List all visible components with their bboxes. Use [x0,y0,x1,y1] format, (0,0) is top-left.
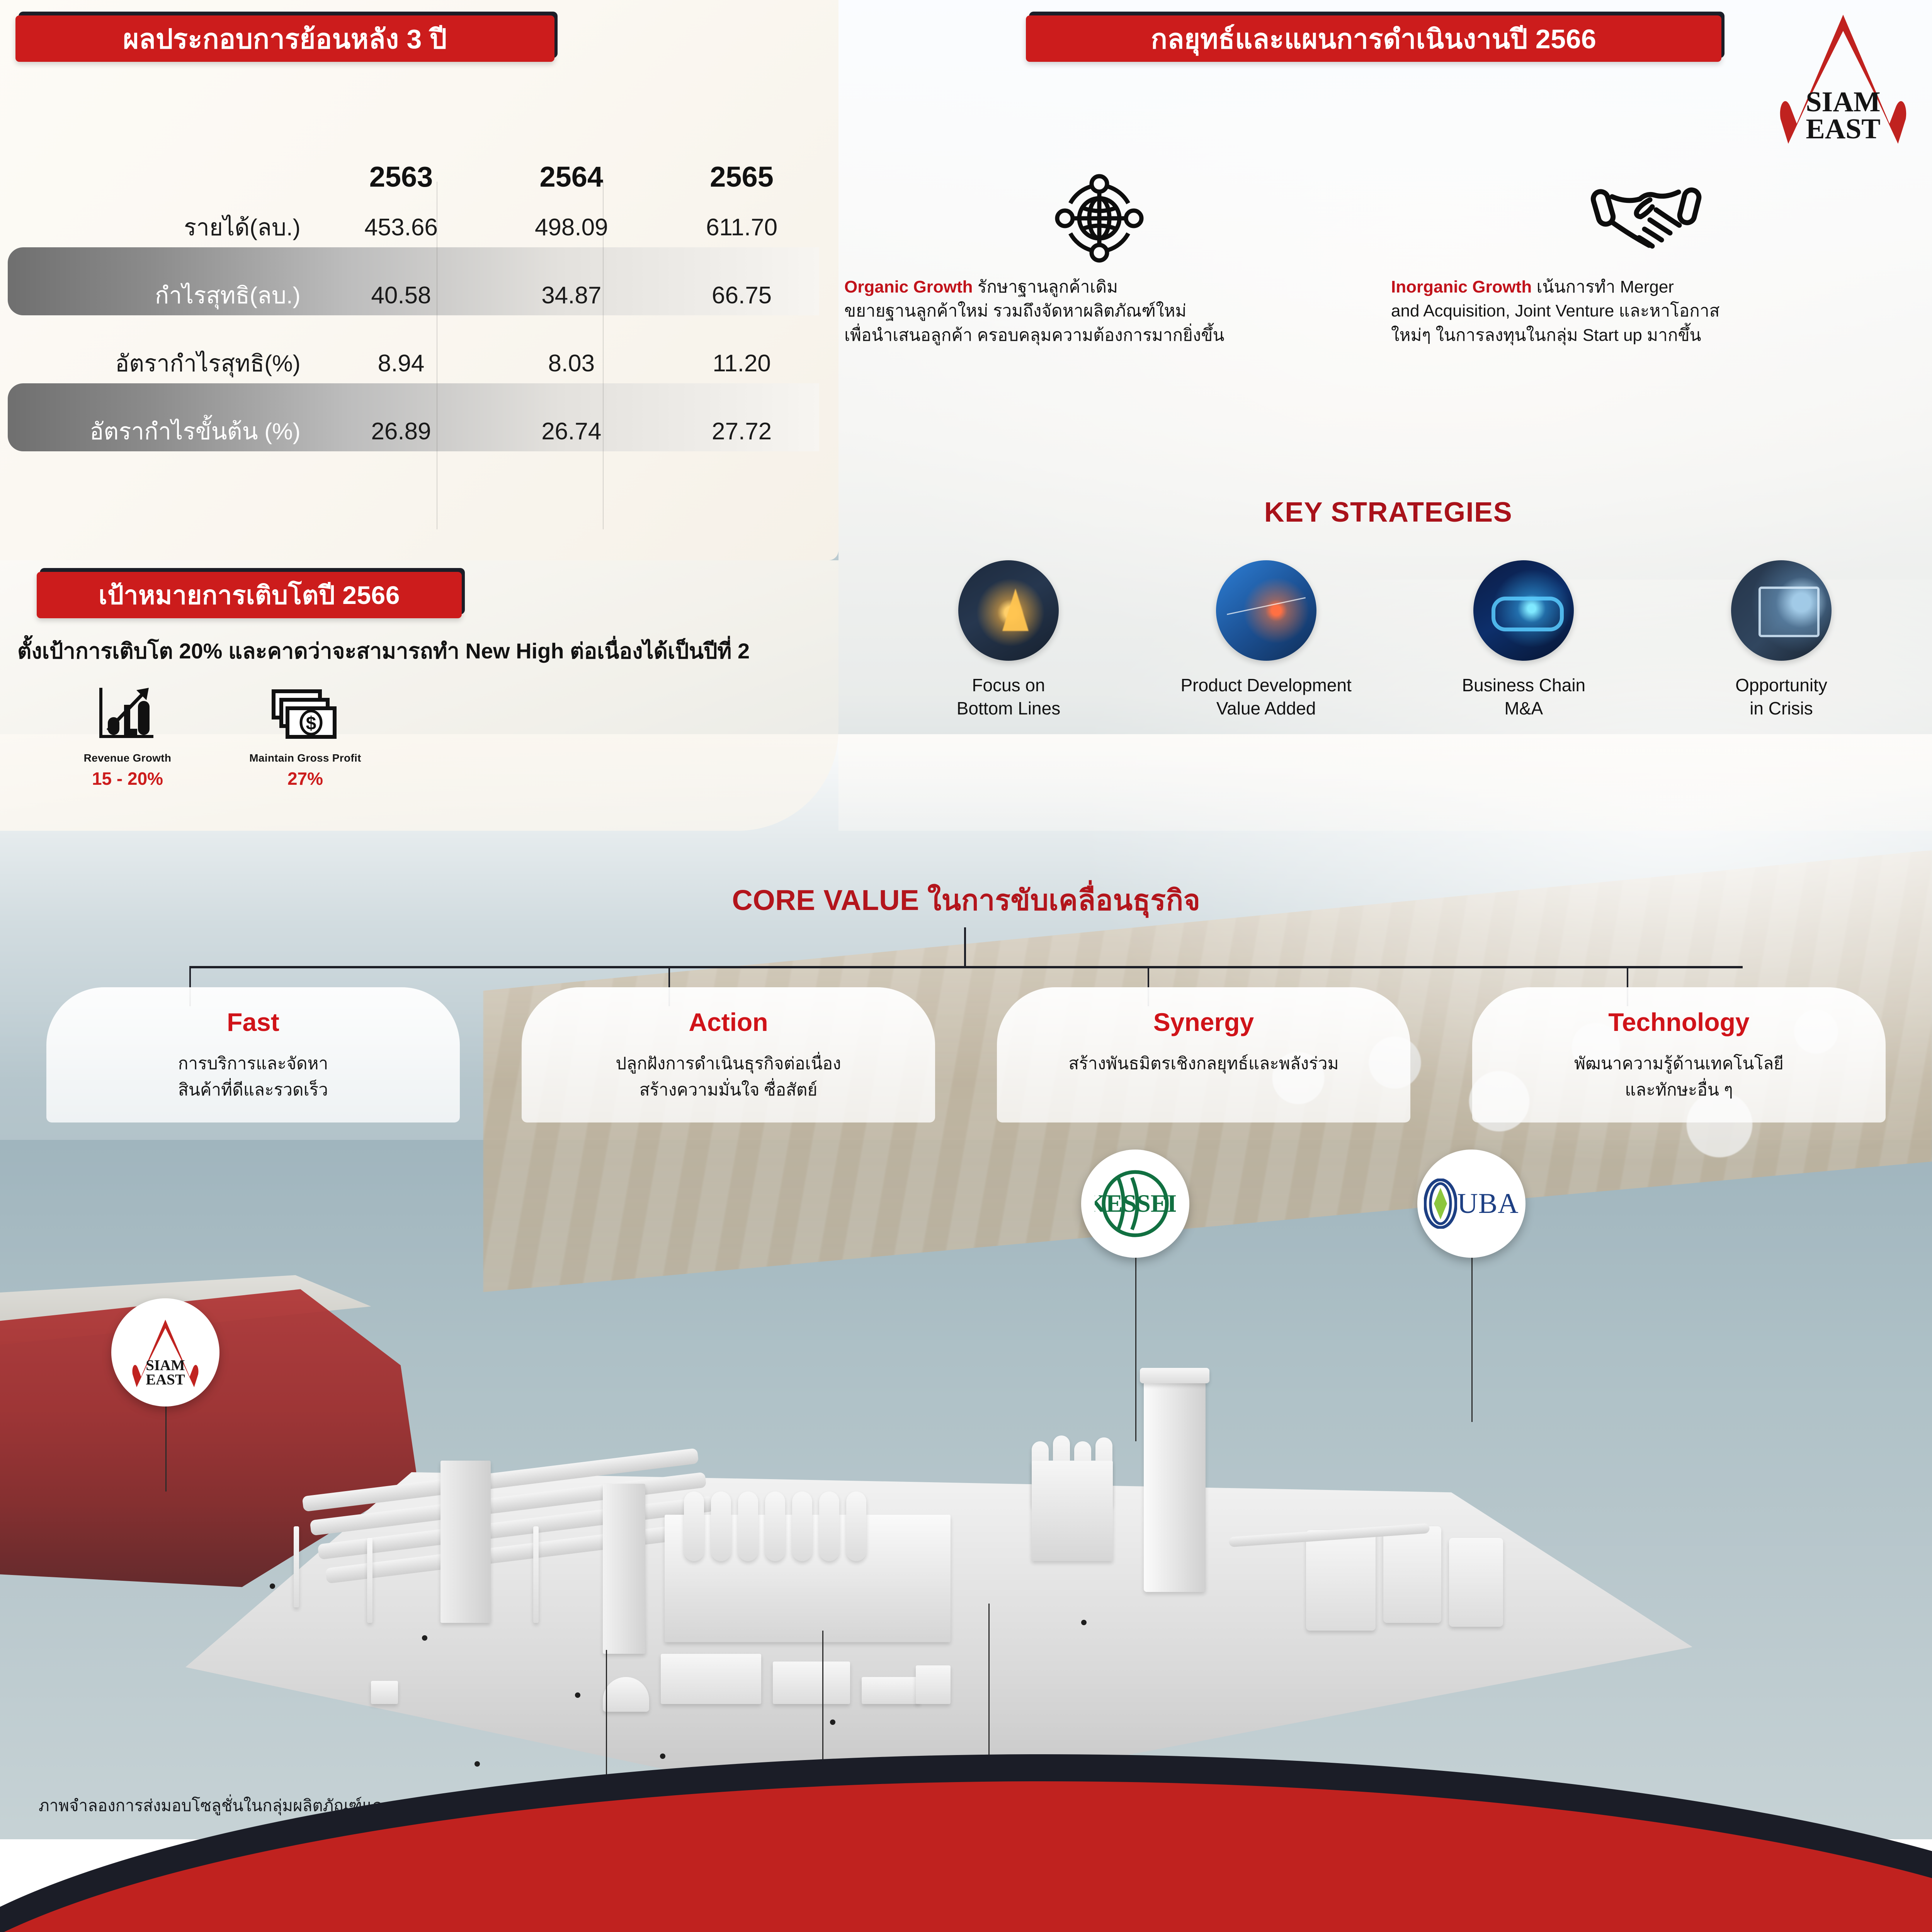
table-cell-value: 498.09 [486,193,656,261]
opportunity-in-crisis-image [1731,560,1832,661]
table-cell-value: 11.20 [656,329,827,397]
core-value-card-action: Action ปลูกฝังการดำเนินธุรกิจต่อเนื่อง ส… [522,987,935,1122]
logo-text-east: EAST [1806,113,1880,145]
banknotes-icon: $ [216,684,394,746]
callout-marker [422,1635,427,1641]
key-strategy-line2: M&A [1504,698,1543,718]
core-value-card-synergy: Synergy สร้างพันธมิตรเชิงกลยุทธ์และพลังร… [997,987,1410,1122]
core-value-connector-bar [189,966,1743,968]
growth-goal-item: $ Maintain Gross Profit 27% [216,684,394,811]
table-header-year: 2563 [316,151,486,193]
core-value-desc-line1: พัฒนาความรู้ด้านเทคโนโลยี [1574,1054,1784,1073]
key-strategy-line1: Product Development [1180,675,1351,695]
badge-leader-line [165,1406,167,1492]
table-header-year: 2564 [486,151,656,193]
key-strategy-label: Business Chain M&A [1408,674,1639,720]
growth-goal-value: 15 - 20% [39,768,216,789]
small-tank [371,1681,398,1704]
core-value-card-fast: Fast การบริการและจัดหา สินค้าที่ดีและรวด… [46,987,460,1122]
core-value-card-desc: ปลูกฝังการดำเนินธุรกิจต่อเนื่อง สร้างควา… [522,1051,935,1103]
core-value-desc-line1: สร้างพันธมิตรเชิงกลยุทธ์และพลังร่วม [1068,1054,1338,1073]
table-row-label: อัตรากำไรสุทธิ(%) [8,329,316,397]
growth-goal-value: 27% [216,768,394,789]
table-cell-value: 8.94 [316,329,486,397]
table-cell-value: 26.74 [486,397,656,465]
core-value-desc-line1: ปลูกฝังการดำเนินธุรกิจต่อเนื่อง [616,1054,841,1073]
inorganic-growth-line3: ใหม่ๆ ในการลงทุนในกลุ่ม Start up มากขึ้น [1391,326,1701,345]
core-value-cards: Fast การบริการและจัดหา สินค้าที่ดีและรวด… [46,987,1886,1122]
table-cell-value: 611.70 [656,193,827,261]
inorganic-growth-paragraph: Inorganic Growth เน้นการทำ Merger and Ac… [1391,275,1901,347]
strategy-header: กลยุทธ์และแผนการดำเนินงานปี 2566 [1026,15,1721,62]
growth-goal-items: Revenue Growth 15 - 20% $ Maintain Gross… [39,684,464,811]
inorganic-growth-lead: Inorganic Growth [1391,277,1532,296]
silo-base [1032,1461,1113,1561]
performance-header-label: ผลประกอบการย้อนหลัง 3 ปี [123,17,447,60]
reactor-vessel [684,1492,704,1561]
storage-tank [1449,1538,1503,1627]
siam-east-logo-mark: SIAM EAST [1762,8,1924,147]
inorganic-growth-rest: เน้นการทำ Merger [1532,277,1674,296]
strategy-header-label: กลยุทธ์และแผนการดำเนินงานปี 2566 [1151,17,1597,60]
reactor-vessel [765,1492,785,1561]
table-cell-value: 26.89 [316,397,486,465]
chimney-stack [1144,1376,1206,1592]
bar-chart-growth-icon [39,684,216,746]
organic-growth-rest: รักษาฐานลูกค้าเดิม [973,277,1118,296]
core-value-card-title: Technology [1472,1007,1886,1037]
key-strategy-label: Focus on Bottom Lines [893,674,1124,720]
table-cell-value: 27.72 [656,397,827,465]
inorganic-growth-block: Inorganic Growth เน้นการทำ Merger and Ac… [1391,170,1901,347]
core-value-desc-line1: การบริการและจัดหา [178,1054,328,1073]
key-strategy-item: Opportunity in Crisis [1665,560,1897,720]
core-value-card-desc: พัฒนาความรู้ด้านเทคโนโลยี และทักษะอื่น ๆ [1472,1051,1886,1103]
svg-text:$: $ [306,713,316,734]
key-strategy-line1: Focus on [972,675,1045,695]
callout-marker [575,1692,580,1698]
table-cell-value: 8.03 [486,329,656,397]
key-strategy-label: Product Development Value Added [1150,674,1382,720]
key-strategy-line2: in Crisis [1750,698,1813,718]
table-cell-value: 66.75 [656,261,827,329]
reactor-vessel [819,1492,839,1561]
table-row: รายได้(ลบ.) 453.66 498.09 611.70 [8,193,827,261]
core-value-card-desc: การบริการและจัดหา สินค้าที่ดีและรวดเร็ว [46,1051,460,1103]
growth-goal-caption: Maintain Gross Profit [216,752,394,764]
badge-text-east: EAST [146,1371,185,1388]
table-row-label: กำไรสุทธิ(ลบ.) [8,261,316,329]
core-value-card-title: Fast [46,1007,460,1037]
key-strategy-item: Focus on Bottom Lines [893,560,1124,720]
skid-unit [862,1677,920,1704]
key-strategy-item: Product Development Value Added [1150,560,1382,720]
reactor-vessel [792,1492,812,1561]
table-row: อัตรากำไรขั้นต้น (%) 26.89 26.74 27.72 [8,397,827,465]
table-cell-value: 34.87 [486,261,656,329]
key-strategy-line1: Business Chain [1462,675,1586,695]
core-value-desc-line2: สินค้าที่ดีและรวดเร็ว [178,1080,328,1099]
organic-growth-lead: Organic Growth [844,277,973,296]
product-development-image [1216,560,1316,661]
table-row: กำไรสุทธิ(ลบ.) 40.58 34.87 66.75 [8,261,827,329]
table-header-blank [8,151,316,193]
skid-unit [661,1654,761,1704]
table-header-row: 2563 2564 2565 [8,151,827,193]
ribbon-face: ผลประกอบการย้อนหลัง 3 ปี [15,15,554,62]
uba-wordmark: UBA [1457,1187,1519,1220]
table-row-label: อัตรากำไรขั้นต้น (%) [8,397,316,465]
growth-goal-header: เป้าหมายการเติบโตปี 2566 [37,572,462,618]
table-cell-value: 453.66 [316,193,486,261]
key-strategy-line2: Bottom Lines [957,698,1060,718]
core-value-card-title: Action [522,1007,935,1037]
organic-growth-paragraph: Organic Growth รักษาฐานลูกค้าเดิม ขยายฐา… [844,275,1354,347]
process-tower [603,1484,645,1654]
ribbon-face: กลยุทธ์และแผนการดำเนินงานปี 2566 [1026,15,1721,62]
callout-marker [660,1753,665,1759]
core-value-desc-line2: และทักษะอื่น ๆ [1625,1080,1733,1099]
uba-logo-icon: UBA [1424,1179,1519,1229]
reactor-vessel [711,1492,731,1561]
core-value-title: CORE VALUE ในการขับเคลื่อนธุรกิจ [0,877,1932,923]
growth-goal-header-label: เป้าหมายการเติบโตปี 2566 [99,575,400,616]
growth-goal-item: Revenue Growth 15 - 20% [39,684,216,811]
chimney-cap [1140,1368,1209,1383]
table-row-label: รายได้(ลบ.) [8,193,316,261]
inorganic-growth-line2: and Acquisition, Joint Venture และหาโอกา… [1391,301,1719,320]
siam-east-logo: SIAM EAST [1762,8,1924,147]
table-row: อัตรากำไรสุทธิ(%) 8.94 8.03 11.20 [8,329,827,397]
badge-leader-line [1135,1256,1136,1441]
core-value-card-title: Synergy [997,1007,1410,1037]
focus-bottom-lines-image [958,560,1059,661]
reactor-vessel [738,1492,758,1561]
kessel-logo-icon: KESSEL [1095,1163,1176,1244]
siam-east-badge-mark: SIAM EAST [123,1314,208,1391]
storage-tank [1306,1530,1376,1631]
callout-marker [270,1583,275,1589]
key-strategy-line1: Opportunity [1735,675,1827,695]
table-header-year: 2565 [656,151,827,193]
truss-column [533,1526,539,1623]
key-strategies-title: KEY STRATEGIES [844,497,1932,528]
business-chain-image [1473,560,1574,661]
kessel-wordmark: KESSEL [1095,1190,1176,1218]
globe-network-icon [844,170,1354,267]
financial-table: 2563 2564 2565 รายได้(ลบ.) 453.66 498.09… [8,151,827,465]
infographic-page: ผลประกอบการย้อนหลัง 3 ปี กลยุทธ์และแผนกา… [0,0,1932,1932]
callout-marker [1081,1620,1087,1625]
callout-marker [474,1761,480,1767]
core-value-card-desc: สร้างพันธมิตรเชิงกลยุทธ์และพลังร่วม [997,1051,1410,1077]
key-strategy-item: Business Chain M&A [1408,560,1639,720]
key-strategies-row: Focus on Bottom Lines Product Developmen… [893,560,1897,720]
reactor-vessel [846,1492,866,1561]
process-tower [440,1461,491,1623]
performance-header: ผลประกอบการย้อนหลัง 3 ปี [15,15,554,62]
uba-badge: UBA [1417,1150,1526,1258]
badge-leader-line [1471,1256,1473,1422]
key-strategy-label: Opportunity in Crisis [1665,674,1897,720]
callout-marker [830,1719,835,1725]
organic-growth-line3: เพื่อนำเสนอลูกค้า ครอบคลุมความต้องการมาก… [844,326,1225,345]
small-tank [916,1665,951,1704]
truss-column [367,1538,372,1623]
key-strategy-line2: Value Added [1216,698,1316,718]
table-cell-value: 40.58 [316,261,486,329]
handshake-icon [1391,170,1901,267]
kessel-badge: KESSEL [1081,1150,1189,1258]
ribbon-face: เป้าหมายการเติบโตปี 2566 [37,572,462,618]
organic-growth-block: Organic Growth รักษาฐานลูกค้าเดิม ขยายฐา… [844,170,1354,347]
siam-east-badge: SIAM EAST [111,1298,219,1406]
storage-tank [1383,1526,1441,1623]
growth-goal-caption: Revenue Growth [39,752,216,764]
skid-unit [773,1662,850,1704]
truss-column [294,1526,299,1607]
core-value-connector-trunk [964,927,966,968]
core-value-desc-line2: สร้างความมั่นใจ ซื่อสัตย์ [639,1080,818,1099]
growth-goal-statement: ตั้งเป้าการเติบโต 20% และคาดว่าจะสามารถท… [17,634,813,668]
core-value-card-technology: Technology พัฒนาความรู้ด้านเทคโนโลยี และ… [1472,987,1886,1122]
organic-growth-line2: ขยายฐานลูกค้าใหม่ รวมถึงจัดหาผลิตภัณฑ์ให… [844,301,1187,320]
